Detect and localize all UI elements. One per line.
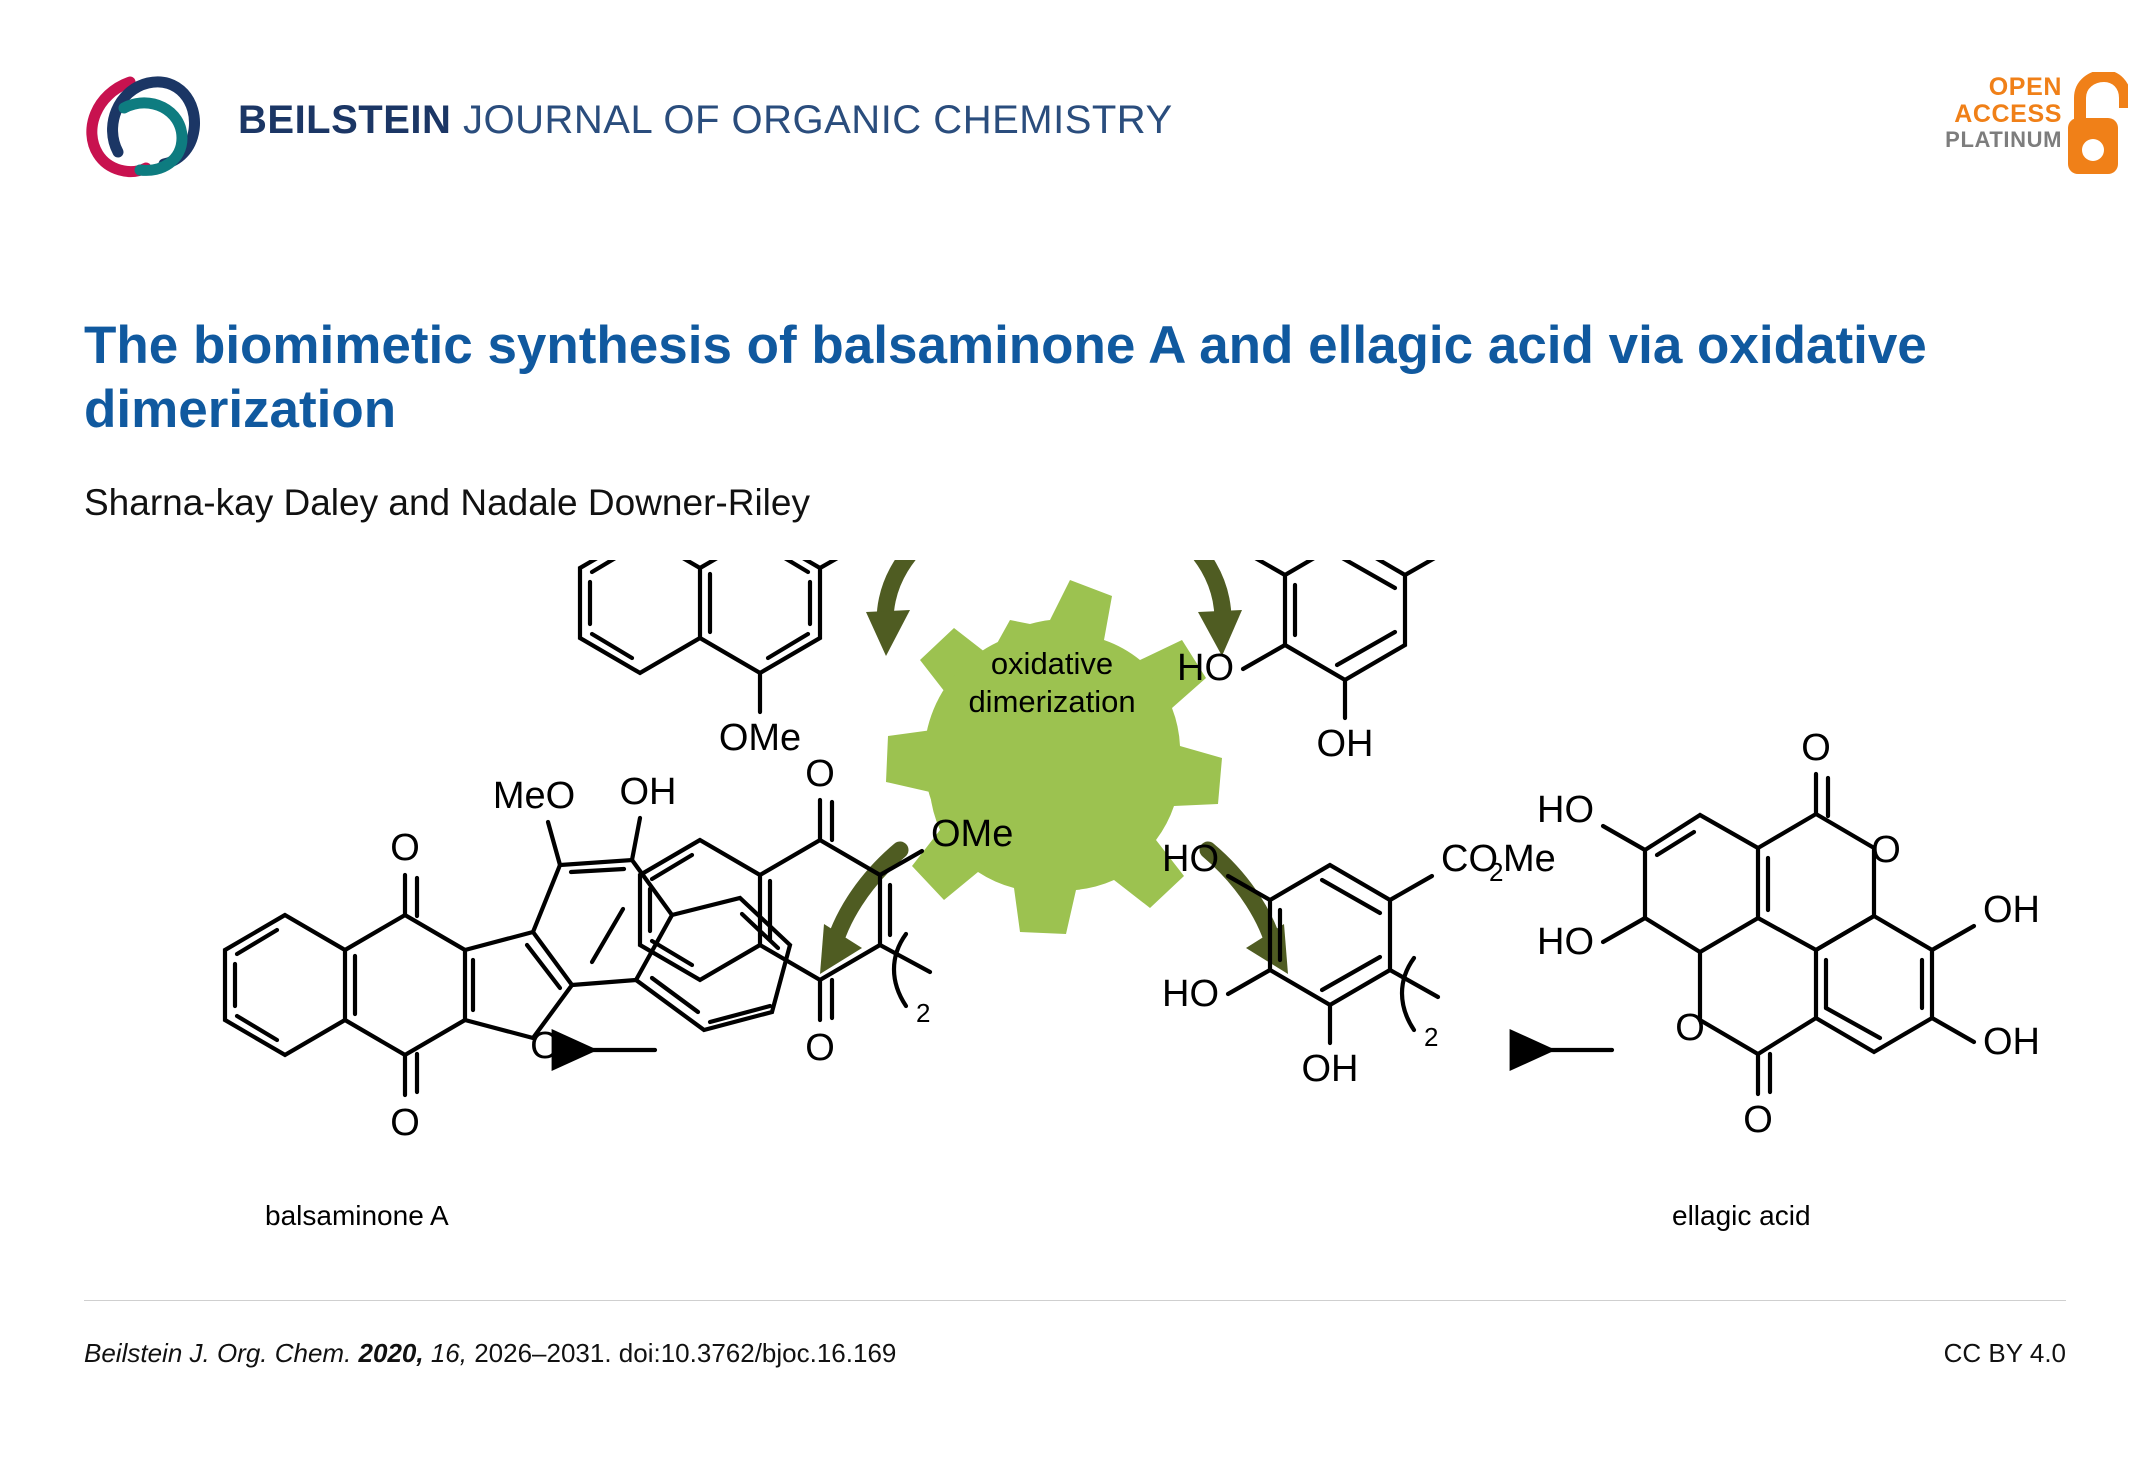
citation-journal: Beilstein J. Org. Chem. [84,1338,351,1368]
citation-line: Beilstein J. Org. Chem. 2020, 16, 2026–2… [84,1338,896,1369]
open-access-line-platinum: PLATINUM [1945,128,2062,152]
structure-trimethoxynaphthalene: OMe OMe OMe [580,560,956,759]
journal-title-bold: BEILSTEIN [238,98,451,142]
journal-title-rest: JOURNAL OF ORGANIC CHEMISTRY [451,98,1172,142]
label-quinone-ome: OMe [931,813,1013,855]
structure-methyl-gallate: HO HO OH CO 2 Me [1177,560,1571,765]
structure-methylgallate-dimer: HO HO OH CO 2 Me 2 [1162,838,1556,1090]
page-title: The biomimetic synthesis of balsaminone … [84,314,2044,443]
label-ella-o-top: O [1801,727,1831,769]
label-co2me-sub: 2 [1504,560,1518,562]
label-dimer-subscript-left: 2 [916,998,930,1028]
label-ella-ho-top: HO [1537,789,1594,831]
label-bals-o-bottom: O [390,1102,420,1144]
oxidative-dimerization-hub: oxidative dimerization [886,580,1222,934]
open-access-badge-text: OPEN ACCESS PLATINUM [1945,74,2062,152]
label-ella-ring-o-top: O [1871,829,1901,871]
label-quinone-o-bottom: O [805,1027,835,1069]
label-dimer-subscript-right: 2 [1424,1022,1438,1052]
license-label: CC BY 4.0 [1944,1338,2066,1369]
beilstein-rings-logo-icon [78,68,208,178]
label-ho-bottom: HO [1177,647,1234,689]
structure-ellagic-acid: HO HO O O OH OH [1537,727,2040,1141]
label-dimer-co2me-tail: Me [1503,838,1556,880]
label-ella-oh-right-top: OH [1983,889,2040,931]
label-dimer-ho-bottom: HO [1162,973,1219,1015]
label-dimer-ho-top: HO [1162,838,1219,880]
label-quinone-o-top: O [805,753,835,795]
label-oh-bottom: OH [1317,723,1374,765]
open-access-line-open: OPEN [1945,74,2062,101]
compound-caption-ellagic: ellagic acid [1672,1200,1811,1232]
graphical-abstract: .bond{stroke:#000;stroke-width:4.2;fill:… [0,560,2150,1260]
label-ome-3: OMe [719,717,801,759]
author-list: Sharna-kay Daley and Nadale Downer-Riley [84,482,810,524]
structure-balsaminone-a: O O O MeO [225,771,790,1144]
label-ella-ho-bottom: HO [1537,921,1594,963]
label-ella-ring-o-bottom: O [1675,1007,1705,1049]
curved-arrow-bottom-right [1208,850,1288,974]
citation-pages-doi: 2026–2031. doi:10.3762/bjoc.16.169 [467,1338,896,1368]
label-bals-meo: MeO [493,775,575,817]
compound-caption-balsaminone: balsaminone A [265,1200,449,1232]
curved-arrow-top-right [1148,560,1242,656]
hub-label-line1: oxidative [991,646,1113,681]
citation-volume: 16, [424,1338,467,1368]
label-bals-furan-o: O [530,1025,560,1067]
open-padlock-icon [2066,72,2128,176]
article-graphical-abstract-page: BEILSTEIN JOURNAL OF ORGANIC CHEMISTRY O… [0,0,2150,1465]
label-dimer-co2me-sub: 2 [1489,857,1503,887]
page-header: BEILSTEIN JOURNAL OF ORGANIC CHEMISTRY O… [0,0,2150,185]
journal-title: BEILSTEIN JOURNAL OF ORGANIC CHEMISTRY [238,98,1173,143]
label-bals-oh: OH [620,771,677,813]
citation-year: 2020, [351,1338,423,1368]
label-dimer-oh-bottom: OH [1302,1048,1359,1090]
label-bals-o-top: O [390,827,420,869]
open-access-line-access: ACCESS [1945,101,2062,128]
scheme-svg: .bond{stroke:#000;stroke-width:4.2;fill:… [0,560,2150,1260]
label-ella-oh-right-bottom: OH [1983,1021,2040,1063]
footer-divider [84,1300,2066,1301]
label-ella-o-bottom: O [1743,1099,1773,1141]
hub-label-line2: dimerization [968,684,1135,719]
